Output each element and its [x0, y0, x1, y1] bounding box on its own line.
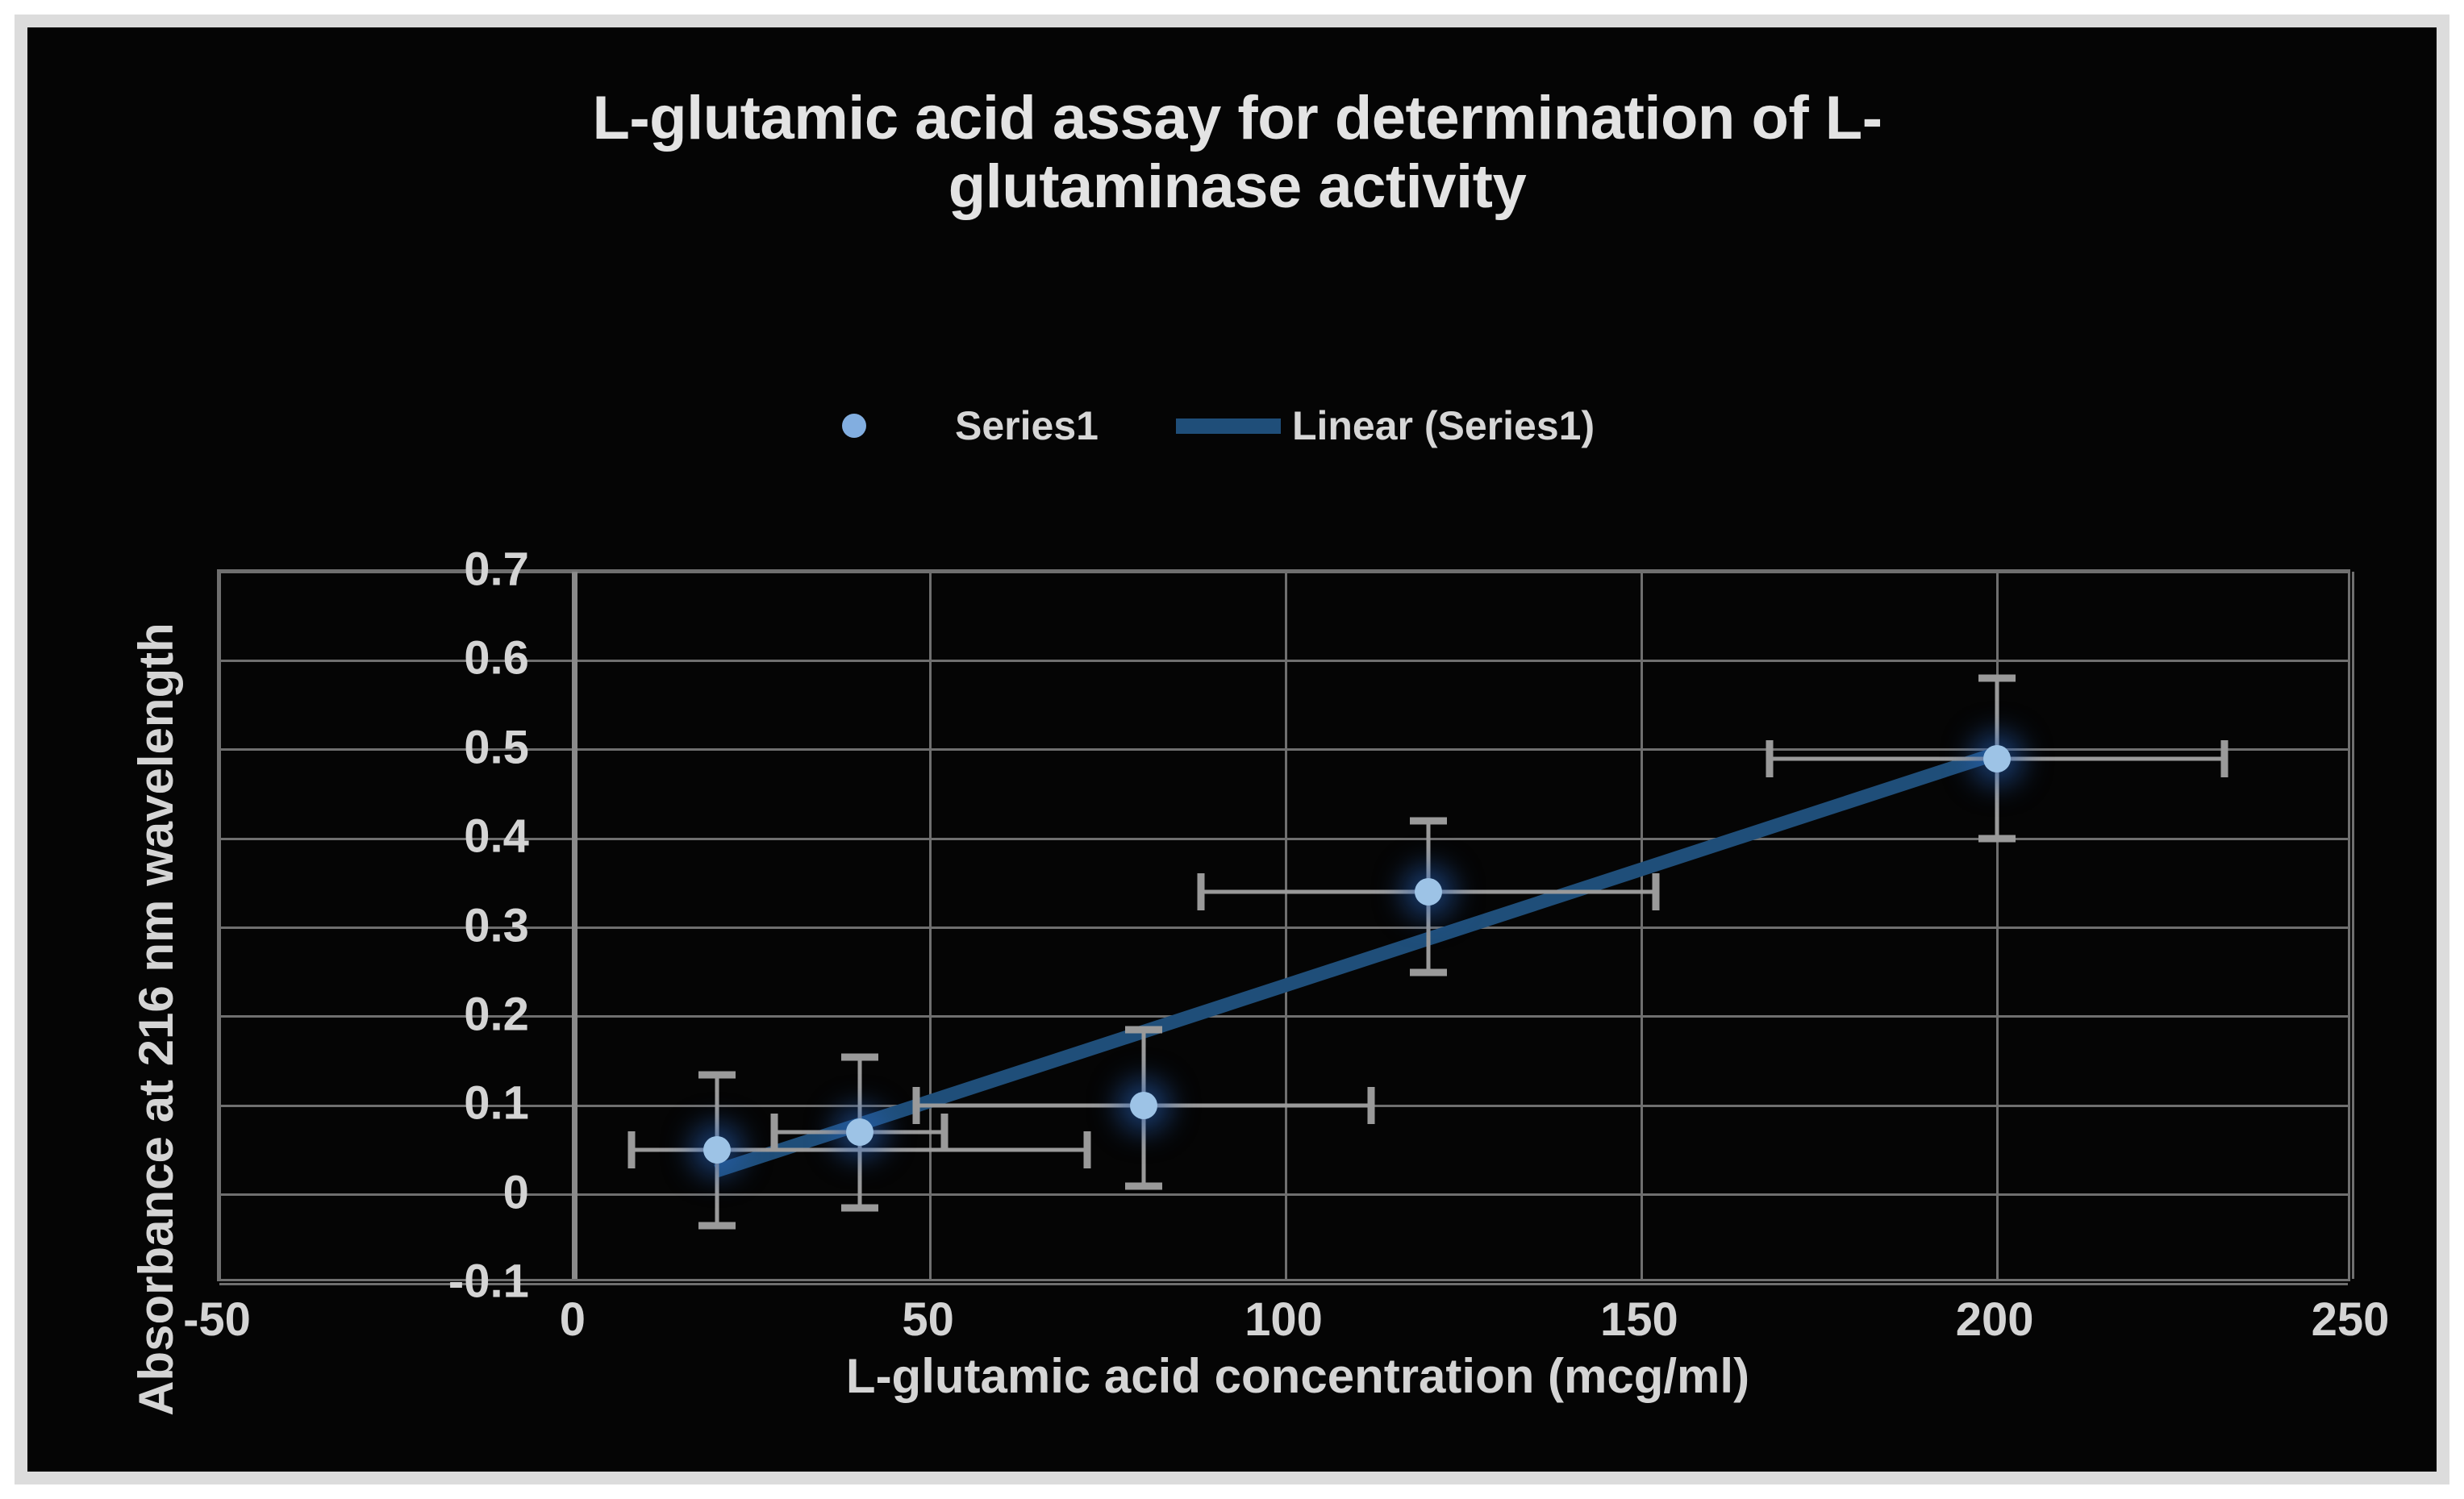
x-tick-label: 100 [1245, 1293, 1323, 1347]
chart-title: L-glutamic acid assay for determination … [269, 84, 2205, 221]
x-tick-label: 50 [902, 1293, 954, 1347]
y-tick-label: 0 [503, 1165, 529, 1219]
legend-label-series1: Series1 [955, 402, 1099, 449]
y-tick-label: 0.5 [464, 720, 529, 774]
chart-canvas: L-glutamic acid assay for determination … [27, 27, 2437, 1472]
gridline-horizontal [219, 1283, 2348, 1285]
chart-frame: L-glutamic acid assay for determination … [15, 15, 2449, 1484]
x-tick-label: 250 [2312, 1293, 2390, 1347]
legend-item-series1[interactable]: Series1 [842, 402, 1099, 449]
chart-legend: Series1 Linear (Series1) [842, 402, 1595, 449]
x-tick-label: 0 [560, 1293, 586, 1347]
x-tick-label: 200 [1956, 1293, 2034, 1347]
y-tick-label: 0.2 [464, 987, 529, 1041]
y-tick-label: 0.4 [464, 810, 529, 864]
y-tick-label: 0.6 [464, 631, 529, 685]
legend-marker-line-icon [1176, 418, 1281, 434]
x-axis-title: L-glutamic acid concentration (mcg/ml) [350, 1348, 2245, 1404]
legend-item-linear-series1[interactable]: Linear (Series1) [1099, 402, 1595, 449]
y-tick-label: -0.1 [448, 1255, 529, 1309]
chart-page: L-glutamic acid assay for determination … [0, 0, 2464, 1499]
plot-area [217, 569, 2350, 1281]
trendline-series1 [219, 572, 2348, 1279]
chart-title-line-1: L-glutamic acid assay for determination … [269, 84, 2205, 152]
chart-title-line-2: glutaminase activity [269, 152, 2205, 221]
legend-marker-dot-icon [842, 414, 866, 438]
y-axis-title: Absorbance at 216 nm wavelength [124, 543, 189, 1472]
y-tick-label: 0.7 [464, 543, 529, 597]
y-tick-label: 0.3 [464, 898, 529, 952]
y-tick-label: 0.1 [464, 1076, 529, 1130]
gridline-vertical [2352, 572, 2354, 1279]
x-tick-label: -50 [183, 1293, 251, 1347]
legend-label-linear-series1: Linear (Series1) [1292, 402, 1595, 449]
x-tick-label: 150 [1600, 1293, 1678, 1347]
